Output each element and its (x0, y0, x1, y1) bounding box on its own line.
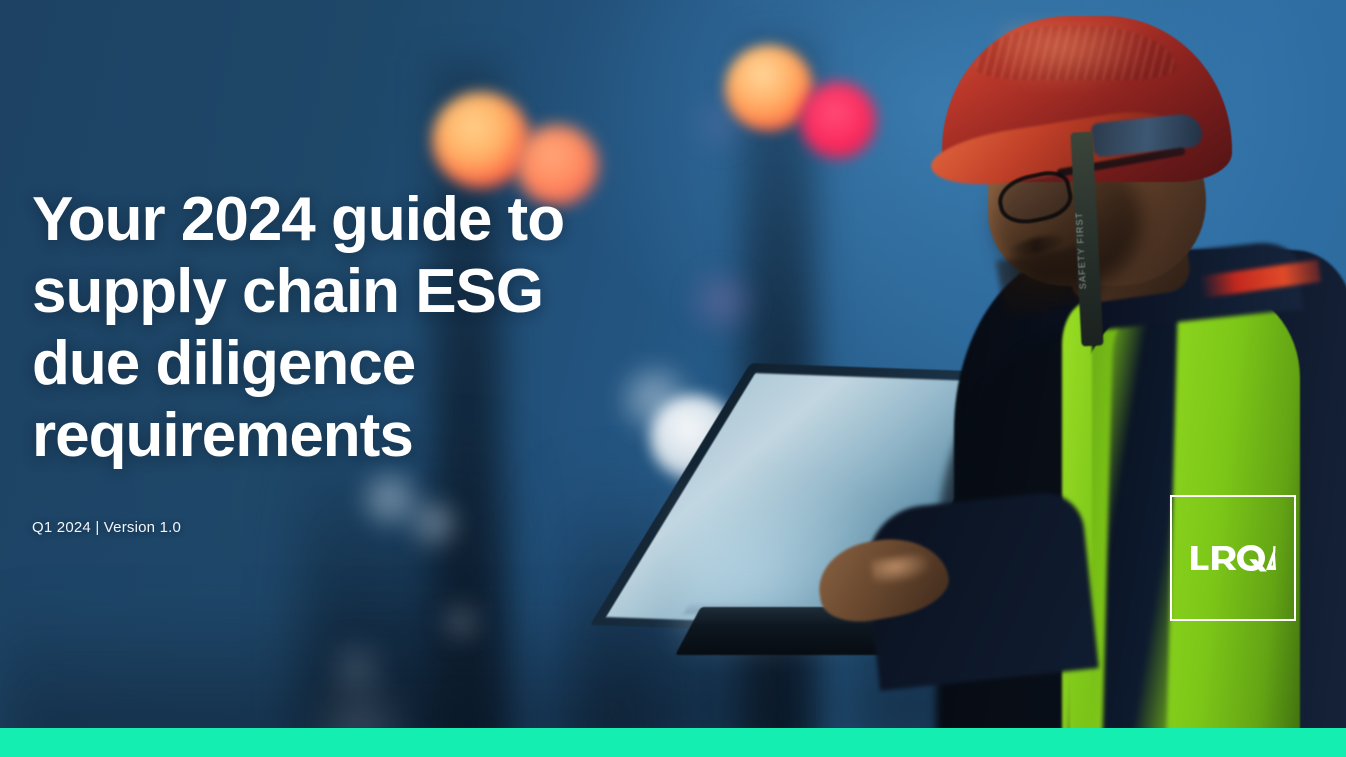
headline-line-2: supply chain ESG (32, 256, 652, 328)
page-title: Your 2024 guide to supply chain ESG due … (32, 184, 652, 472)
footer-accent-bar (0, 728, 1346, 757)
white-bokeh-7 (438, 600, 484, 644)
vest-dark-stripe (1102, 291, 1178, 757)
worker-figure: SAFETY FIRST (880, 0, 1346, 757)
white-bokeh-6 (408, 498, 460, 548)
hard-hat-highlight (1000, 24, 1150, 88)
white-bokeh-8 (328, 640, 386, 696)
headline-line-4: requirements (32, 400, 652, 472)
lrqa-wordmark-icon (1172, 543, 1294, 573)
pink-bokeh-top (800, 82, 876, 158)
orange-bokeh-left (432, 92, 530, 188)
headline-line-1: Your 2024 guide to (32, 184, 652, 256)
violet-bokeh-mid (690, 270, 754, 332)
cover-page: SAFETY FIRST Your 2024 guide to supply c… (0, 0, 1346, 757)
lrqa-logo (1170, 495, 1296, 621)
subtitle-meta: Q1 2024 | Version 1.0 (32, 518, 181, 538)
headline-line-3: due diligence (32, 328, 652, 400)
